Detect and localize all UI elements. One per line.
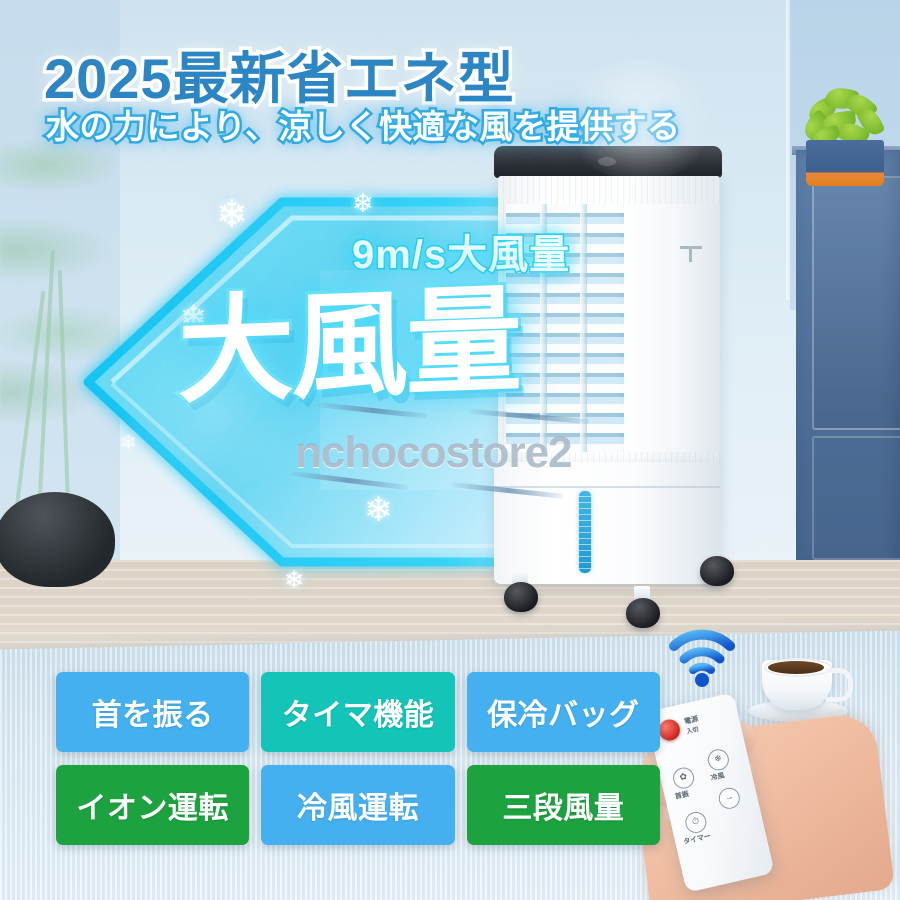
remote-cool-button[interactable]: ❄: [706, 747, 731, 772]
unit-tank-seam: [494, 486, 720, 488]
remote-power-button[interactable]: [657, 717, 682, 742]
flower-pot: [806, 140, 884, 186]
cup-coffee-surface: [768, 661, 824, 674]
remote-cool-label: 冷風: [710, 770, 726, 783]
caster-wheel-icon: [700, 556, 734, 586]
snowflake-icon: ❄: [364, 490, 393, 530]
unit-side-panel: [624, 204, 720, 452]
feature-cool-mode[interactable]: 冷風運転: [261, 765, 454, 845]
vent-divider: [580, 204, 587, 452]
unit-top-panel: [494, 146, 722, 178]
remote-power-sublabel: 入切: [686, 724, 700, 735]
caster-wheel-icon: [504, 582, 538, 612]
big-airflow-label: 大風量: [178, 246, 520, 426]
feature-swing[interactable]: 首を振る: [56, 672, 249, 752]
feature-cooler-bag[interactable]: 保冷バッグ: [467, 672, 660, 752]
remote-timer-label: タイマー: [682, 831, 712, 847]
product-banner: ❄ ❄ ❄ ❄ ❄ ❄ ❄ 2025最新省エネ型 水の力により、涼しく快適な風を…: [0, 0, 900, 900]
cup-handle: [826, 668, 853, 702]
snowflake-icon: ❄: [216, 192, 248, 237]
page-subtitle: 水の力により、涼しく快適な風を提供する: [46, 100, 681, 148]
water-level-ticks: [579, 491, 591, 573]
feature-button-grid: 首を振る タイマ機能 保冷バッグ イオン運転 冷風運転 三段風量: [56, 672, 660, 858]
feature-ion-mode[interactable]: イオン運転: [56, 765, 249, 845]
feature-row-1: 首を振る タイマ機能 保冷バッグ: [56, 672, 660, 752]
caster-wheel-icon: [626, 598, 660, 628]
unit-top-knob: [598, 157, 616, 166]
feature-row-2: イオン運転 冷風運転 三段風量: [56, 765, 660, 845]
store-watermark: nchocostore2: [295, 428, 572, 478]
unit-water-tank: [494, 462, 720, 584]
snowflake-icon: ❄: [120, 430, 137, 455]
feature-timer[interactable]: タイマ機能: [261, 672, 454, 752]
snowflake-icon: ❄: [284, 566, 304, 595]
remote-speed-button[interactable]: →: [717, 786, 742, 811]
remote-swing-button[interactable]: ✿: [671, 765, 696, 790]
wifi-icon: [668, 626, 736, 688]
wall-seam: [786, 0, 791, 300]
cabinet-door-upper: [812, 176, 900, 430]
remote-swing-label: 首振: [674, 789, 690, 802]
cabinet-door-lower: [812, 436, 900, 560]
snowflake-icon: ❄: [352, 188, 374, 219]
feature-three-speed[interactable]: 三段風量: [467, 765, 660, 845]
unit-brand-logo: [680, 246, 702, 265]
